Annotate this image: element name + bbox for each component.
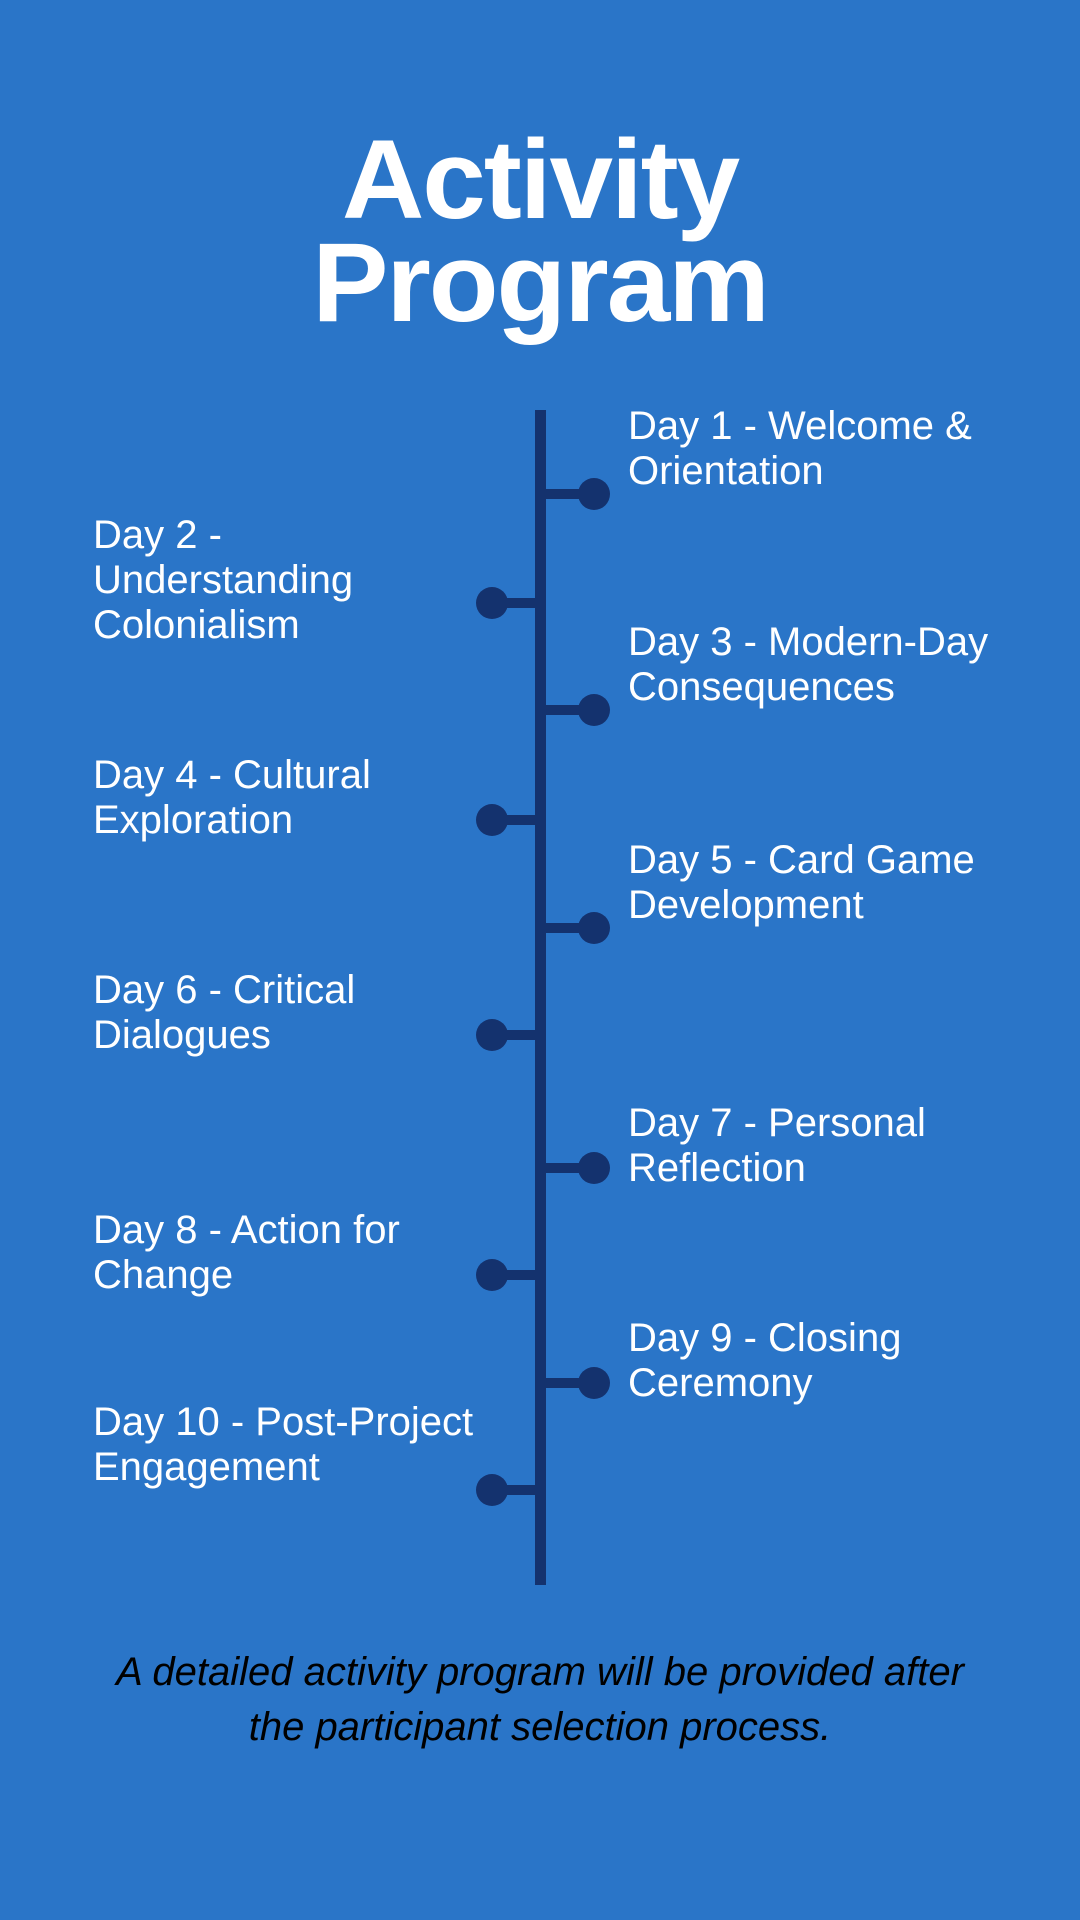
timeline-item-label: Day 6 - Critical Dialogues [93,968,493,1058]
timeline-connector [541,1163,593,1173]
timeline-dot-icon[interactable] [476,1474,508,1506]
timeline-dot-icon[interactable] [476,587,508,619]
timeline-connector [493,1270,545,1280]
timeline-connector [541,1378,593,1388]
timeline-connector [541,923,593,933]
timeline-item-label: Day 3 - Modern-Day Consequences [628,620,1028,710]
activity-program-poster: Activity Program Day 1 - Welcome & Orien… [0,0,1080,1920]
timeline-connector [493,815,545,825]
timeline-dot-icon[interactable] [578,1367,610,1399]
timeline-connector [493,598,545,608]
timeline-item-label: Day 5 - Card Game Development [628,838,1028,928]
timeline-dot-icon[interactable] [578,912,610,944]
timeline-item-label: Day 9 - Closing Ceremony [628,1316,1028,1406]
timeline-item-label: Day 7 - Personal Reflection [628,1101,1028,1191]
timeline-item-label: Day 8 - Action for Change [93,1208,493,1298]
timeline-dot-icon[interactable] [578,1152,610,1184]
page-title-line-2: Program [0,231,1080,334]
timeline-item-label: Day 2 - Understanding Colonialism [93,513,493,647]
timeline-dot-icon[interactable] [578,694,610,726]
timeline-connector [541,705,593,715]
page-title-line-1: Activity [0,128,1080,231]
timeline-connector [541,489,593,499]
timeline-item-label: Day 1 - Welcome & Orientation [628,404,1028,494]
page-title: Activity Program [0,128,1080,334]
footer-note: A detailed activity program will be prov… [0,1645,1080,1755]
timeline-item-label: Day 10 - Post-Project Engagement [93,1400,493,1490]
timeline-dot-icon[interactable] [476,804,508,836]
timeline-dot-icon[interactable] [476,1019,508,1051]
timeline-connector [493,1485,545,1495]
timeline-dot-icon[interactable] [578,478,610,510]
timeline-dot-icon[interactable] [476,1259,508,1291]
timeline-spine [535,410,546,1585]
timeline-item-label: Day 4 - Cultural Exploration [93,753,493,843]
timeline-connector [493,1030,545,1040]
